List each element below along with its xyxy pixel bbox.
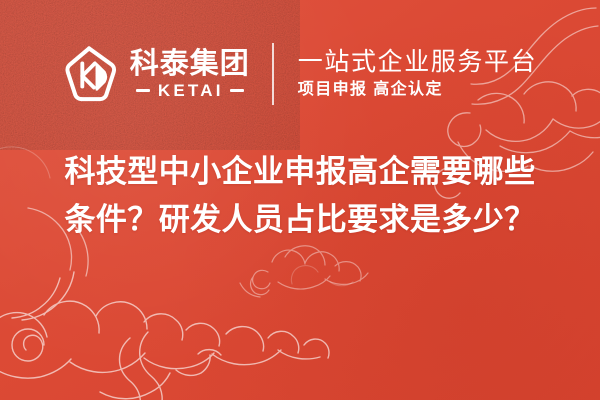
tagline-block: 一站式企业服务平台 项目申报 高企认定: [274, 50, 537, 98]
brand-name-cn: 科泰集团: [130, 49, 250, 79]
banner-header: 科泰集团 KETAI 一站式企业服务平台 项目申报 高企认定: [0, 30, 600, 118]
headline-block: 科技型中小企业申报高企需要哪些 条件？研发人员占比要求是多少？: [0, 152, 600, 241]
headline-line-1: 科技型中小企业申报高企需要哪些: [65, 152, 536, 193]
ketai-kd-diamond-logo-icon: [63, 44, 119, 104]
headline-line-2: 条件？研发人员占比要求是多少？: [65, 200, 536, 241]
tagline-secondary: 项目申报 高企认定: [298, 82, 537, 98]
brand-name-en: KETAI: [156, 82, 224, 99]
cloud-center-small: [240, 246, 368, 297]
dash-left-icon: [136, 89, 150, 92]
promo-banner: 科泰集团 KETAI 一站式企业服务平台 项目申报 高企认定 科技型中小企业申报…: [0, 0, 600, 400]
cloud-bottom-left: [0, 272, 329, 400]
cloud-bottom-right-wisp: [291, 266, 353, 286]
brand-lockup: 科泰集团 KETAI: [63, 44, 272, 104]
brand-name-en-row: KETAI: [130, 82, 250, 99]
dash-right-icon: [230, 89, 244, 92]
tagline-primary: 一站式企业服务平台: [298, 50, 537, 75]
brand-text-block: 科泰集团 KETAI: [130, 49, 250, 98]
